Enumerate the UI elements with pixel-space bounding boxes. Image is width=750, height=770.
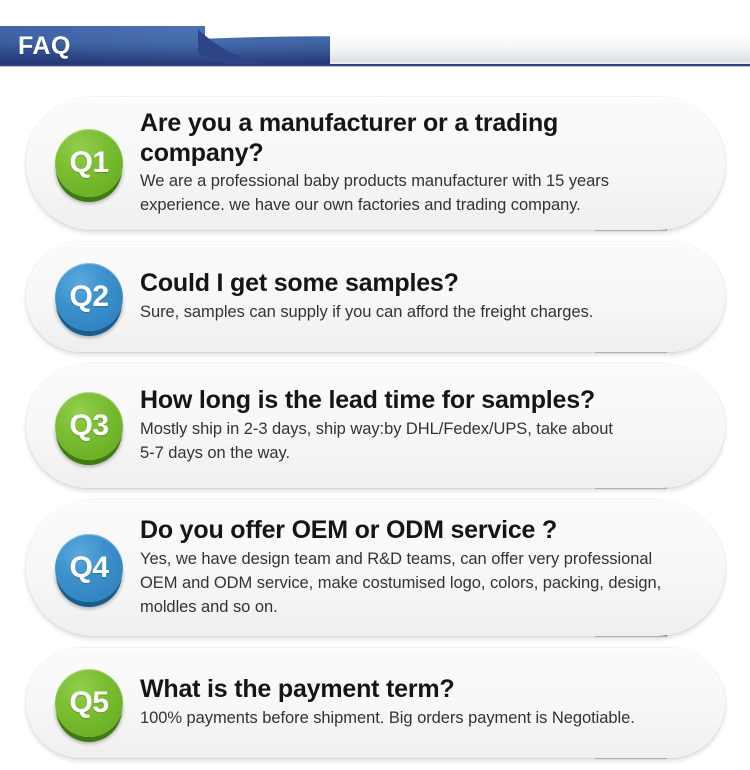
faq-text-block: How long is the lead time for samples?Mo… [130, 386, 691, 465]
faq-text-block: Are you a manufacturer or a trading comp… [130, 109, 691, 218]
faq-answer: Yes, we have design team and R&D teams, … [140, 548, 687, 620]
faq-text-block: Could I get some samples?Sure, samples c… [130, 269, 691, 324]
faq-list: Q1Are you a manufacturer or a trading co… [0, 97, 750, 770]
header-sheen [300, 34, 750, 65]
faq-item[interactable]: Q3How long is the lead time for samples?… [0, 364, 750, 488]
faq-answer-line: Sure, samples can supply if you can affo… [140, 301, 687, 325]
faq-badge-container: Q5 [48, 669, 130, 737]
faq-item[interactable]: Q2Could I get some samples?Sure, samples… [0, 242, 750, 352]
faq-number-badge: Q3 [55, 392, 123, 460]
faq-answer: Sure, samples can supply if you can affo… [140, 301, 687, 325]
faq-answer-line: experience. we have our own factories an… [140, 194, 687, 218]
faq-page: FAQ Q1Are you a manufacturer or a tradin… [0, 0, 750, 766]
faq-badge-container: Q4 [48, 534, 130, 602]
faq-question: How long is the lead time for samples? [140, 386, 687, 416]
faq-question: What is the payment term? [140, 675, 687, 705]
faq-number-badge: Q1 [55, 129, 123, 197]
faq-item[interactable]: Q5What is the payment term?100% payments… [0, 648, 750, 758]
faq-card[interactable]: Q5What is the payment term?100% payments… [26, 648, 725, 758]
page-title: FAQ [18, 30, 71, 63]
faq-item[interactable]: Q4Do you offer OEM or ODM service ?Yes, … [0, 500, 750, 636]
faq-item[interactable]: Q1Are you a manufacturer or a trading co… [0, 97, 750, 230]
faq-answer: We are a professional baby products manu… [140, 170, 687, 218]
faq-question: Are you a manufacturer or a trading comp… [140, 109, 687, 168]
faq-answer-line: Yes, we have design team and R&D teams, … [140, 548, 687, 572]
faq-badge-container: Q2 [48, 263, 130, 331]
faq-question: Could I get some samples? [140, 269, 687, 299]
faq-badge-container: Q3 [48, 392, 130, 460]
faq-number-badge: Q2 [55, 263, 123, 331]
faq-answer: 100% payments before shipment. Big order… [140, 707, 687, 731]
faq-question: Do you offer OEM or ODM service ? [140, 516, 687, 546]
header-banner-tail [198, 26, 330, 67]
faq-answer-line: OEM and ODM service, make costumised log… [140, 572, 687, 596]
faq-answer-line: moldles and so on. [140, 596, 687, 620]
faq-number-badge: Q5 [55, 669, 123, 737]
faq-card[interactable]: Q2Could I get some samples?Sure, samples… [26, 242, 725, 352]
page-header: FAQ [0, 26, 750, 68]
faq-answer-line: Mostly ship in 2-3 days, ship way:by DHL… [140, 418, 687, 442]
faq-text-block: What is the payment term?100% payments b… [130, 675, 691, 730]
faq-badge-container: Q1 [48, 129, 130, 197]
faq-number-badge: Q4 [55, 534, 123, 602]
header-divider-rule [0, 64, 750, 67]
faq-answer-line: We are a professional baby products manu… [140, 170, 687, 194]
faq-answer: Mostly ship in 2-3 days, ship way:by DHL… [140, 418, 687, 466]
faq-text-block: Do you offer OEM or ODM service ?Yes, we… [130, 516, 691, 619]
faq-card[interactable]: Q1Are you a manufacturer or a trading co… [26, 97, 725, 230]
faq-card[interactable]: Q4Do you offer OEM or ODM service ?Yes, … [26, 500, 725, 636]
faq-answer-line: 5-7 days on the way. [140, 442, 687, 466]
faq-answer-line: 100% payments before shipment. Big order… [140, 707, 687, 731]
faq-card[interactable]: Q3How long is the lead time for samples?… [26, 364, 725, 488]
